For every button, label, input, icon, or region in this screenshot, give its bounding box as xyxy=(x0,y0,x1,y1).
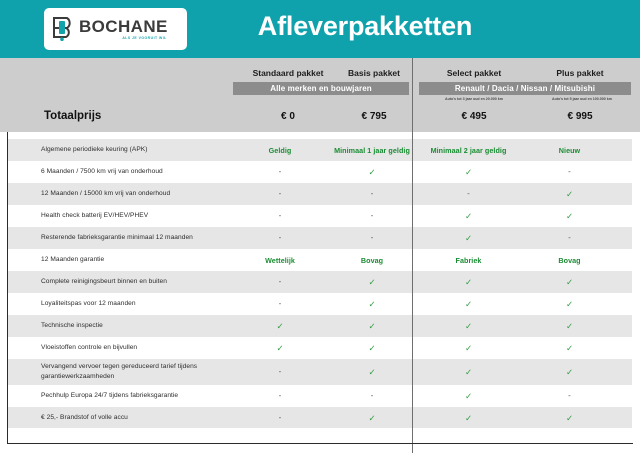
cell-text: Bovag xyxy=(558,256,580,265)
cell-basis: - xyxy=(326,212,418,220)
cell-text: Fabriek xyxy=(456,256,482,265)
cell-plus: Bovag xyxy=(519,256,620,265)
cell-select: ✓ xyxy=(418,168,519,177)
cell-basis: - xyxy=(326,190,418,198)
check-icon: ✓ xyxy=(276,321,283,331)
check-icon: ✓ xyxy=(465,321,472,331)
cell-basis: ✓ xyxy=(326,322,418,331)
dash-icon: - xyxy=(568,391,571,400)
cell-select: ✓ xyxy=(418,344,519,353)
check-icon: ✓ xyxy=(465,367,472,377)
dash-icon: - xyxy=(279,189,282,198)
dash-icon: - xyxy=(371,211,374,220)
cell-select: Minimaal 2 jaar geldig xyxy=(418,146,519,155)
check-icon: ✓ xyxy=(465,167,472,177)
package-header-standaard: Standaard pakket xyxy=(239,68,337,78)
cell-select: ✓ xyxy=(418,234,519,243)
cell-standaard: ✓ xyxy=(234,322,326,331)
cell-text: Minimaal 1 jaar geldig xyxy=(334,146,410,155)
row-label: Vloeistoffen controle en bijvullen xyxy=(8,343,234,353)
row-label: 6 Maanden / 7500 km vrij van onderhoud xyxy=(8,167,234,177)
cell-plus: - xyxy=(519,234,620,242)
feature-table: Algemene periodieke keuring (APK)GeldigM… xyxy=(8,139,632,429)
cell-basis: Minimaal 1 jaar geldig xyxy=(326,146,418,155)
dash-icon: - xyxy=(279,391,282,400)
check-icon: ✓ xyxy=(465,343,472,353)
check-icon: ✓ xyxy=(566,413,573,423)
total-price-select: € 495 xyxy=(422,111,526,122)
cell-standaard: - xyxy=(234,190,326,198)
cell-standaard: - xyxy=(234,212,326,220)
cell-standaard: - xyxy=(234,278,326,286)
package-header-plus: Plus pakket xyxy=(530,68,630,78)
dash-icon: - xyxy=(279,211,282,220)
row-label: € 25,- Brandstof of volle accu xyxy=(8,413,234,423)
dash-icon: - xyxy=(279,277,282,286)
cell-plus: - xyxy=(519,392,620,400)
check-icon: ✓ xyxy=(566,189,573,199)
cell-select: Fabriek xyxy=(418,256,519,265)
cell-basis: - xyxy=(326,234,418,242)
cell-select: - xyxy=(418,190,519,198)
row-label: Pechhulp Europa 24/7 tijdens fabrieksgar… xyxy=(8,391,234,401)
check-icon: ✓ xyxy=(368,413,375,423)
check-icon: ✓ xyxy=(465,299,472,309)
table-row: Loyaliteitspas voor 12 maanden-✓✓✓ xyxy=(8,293,632,315)
check-icon: ✓ xyxy=(368,167,375,177)
group-band-alle-merken: Alle merken en bouwjaren xyxy=(233,82,409,95)
cell-plus: ✓ xyxy=(519,322,620,331)
table-row: Resterende fabrieksgarantie minimaal 12 … xyxy=(8,227,632,249)
check-icon: ✓ xyxy=(368,367,375,377)
row-label: Algemene periodieke keuring (APK) xyxy=(8,145,234,155)
cell-text: Geldig xyxy=(269,146,292,155)
cell-plus: ✓ xyxy=(519,344,620,353)
table-row: 6 Maanden / 7500 km vrij van onderhoud-✓… xyxy=(8,161,632,183)
group-band-renault-dacia-nissan-mitsubishi: Renault / Dacia / Nissan / Mitsubishi xyxy=(419,82,631,95)
table-row: 12 Maanden garantieWettelijkBovagFabriek… xyxy=(8,249,632,271)
package-header-basis: Basis pakket xyxy=(334,68,414,78)
dash-icon: - xyxy=(371,189,374,198)
cell-plus: ✓ xyxy=(519,300,620,309)
table-row: Complete reinigingsbeurt binnen en buite… xyxy=(8,271,632,293)
cell-basis: - xyxy=(326,392,418,400)
total-price-label: Totaalprijs xyxy=(44,110,101,122)
check-icon: ✓ xyxy=(465,211,472,221)
dash-icon: - xyxy=(279,233,282,242)
row-label: Vervangend vervoer tegen gereduceerd tar… xyxy=(8,362,234,381)
table-row: Vervangend vervoer tegen gereduceerd tar… xyxy=(8,359,632,385)
cell-basis: ✓ xyxy=(326,300,418,309)
cell-standaard: - xyxy=(234,392,326,400)
cell-select: ✓ xyxy=(418,368,519,377)
row-label: Health check batterij EV/HEV/PHEV xyxy=(8,211,234,221)
cell-plus: ✓ xyxy=(519,414,620,423)
table-row: Pechhulp Europa 24/7 tijdens fabrieksgar… xyxy=(8,385,632,407)
cell-basis: ✓ xyxy=(326,168,418,177)
check-icon: ✓ xyxy=(368,299,375,309)
cell-basis: Bovag xyxy=(326,256,418,265)
check-icon: ✓ xyxy=(566,277,573,287)
check-icon: ✓ xyxy=(566,211,573,221)
total-price-plus: € 995 xyxy=(530,111,630,122)
cell-text: Wettelijk xyxy=(265,256,295,265)
cell-plus: ✓ xyxy=(519,190,620,199)
cell-select: ✓ xyxy=(418,212,519,221)
fine-print-select: Auto's tot 3 jaar oud en 20.000 km xyxy=(422,97,526,101)
table-row: € 25,- Brandstof of volle accu-✓✓✓ xyxy=(8,407,632,429)
dash-icon: - xyxy=(467,189,470,198)
check-icon: ✓ xyxy=(566,321,573,331)
check-icon: ✓ xyxy=(465,391,472,401)
cell-basis: ✓ xyxy=(326,278,418,287)
check-icon: ✓ xyxy=(566,343,573,353)
total-price-basis: € 795 xyxy=(334,111,414,122)
table-row: Algemene periodieke keuring (APK)GeldigM… xyxy=(8,139,632,161)
afleverpakketten-page: BOCHANE ALS JE VOORUIT WIL Afleverpakket… xyxy=(0,0,640,453)
row-label: Resterende fabrieksgarantie minimaal 12 … xyxy=(8,233,234,243)
table-row: Technische inspectie✓✓✓✓ xyxy=(8,315,632,337)
dash-icon: - xyxy=(371,391,374,400)
check-icon: ✓ xyxy=(465,413,472,423)
table-row: Vloeistoffen controle en bijvullen✓✓✓✓ xyxy=(8,337,632,359)
row-label: 12 Maanden garantie xyxy=(8,255,234,265)
cell-select: ✓ xyxy=(418,300,519,309)
cell-standaard: - xyxy=(234,300,326,308)
dash-icon: - xyxy=(371,233,374,242)
cell-standaard: Wettelijk xyxy=(234,256,326,265)
check-icon: ✓ xyxy=(368,321,375,331)
check-icon: ✓ xyxy=(566,367,573,377)
cell-standaard: - xyxy=(234,168,326,176)
dash-icon: - xyxy=(568,167,571,176)
cell-basis: ✓ xyxy=(326,414,418,423)
cell-plus: - xyxy=(519,168,620,176)
table-row: 12 Maanden / 15000 km vrij van onderhoud… xyxy=(8,183,632,205)
row-label: 12 Maanden / 15000 km vrij van onderhoud xyxy=(8,189,234,199)
dash-icon: - xyxy=(279,167,282,176)
table-row: Health check batterij EV/HEV/PHEV--✓✓ xyxy=(8,205,632,227)
cell-standaard: Geldig xyxy=(234,146,326,155)
cell-select: ✓ xyxy=(418,278,519,287)
check-icon: ✓ xyxy=(276,343,283,353)
cell-select: ✓ xyxy=(418,414,519,423)
check-icon: ✓ xyxy=(465,277,472,287)
table-bottom-border xyxy=(7,443,633,444)
check-icon: ✓ xyxy=(566,299,573,309)
cell-standaard: - xyxy=(234,234,326,242)
row-label: Loyaliteitspas voor 12 maanden xyxy=(8,299,234,309)
table-tail-row xyxy=(8,428,632,443)
cell-standaard: - xyxy=(234,368,326,376)
package-group-divider xyxy=(412,58,413,453)
cell-basis: ✓ xyxy=(326,368,418,377)
check-icon: ✓ xyxy=(368,277,375,287)
cell-text: Minimaal 2 jaar geldig xyxy=(431,146,507,155)
cell-select: ✓ xyxy=(418,322,519,331)
total-price-standaard: € 0 xyxy=(239,111,337,122)
check-icon: ✓ xyxy=(368,343,375,353)
cell-plus: ✓ xyxy=(519,368,620,377)
dash-icon: - xyxy=(568,233,571,242)
cell-basis: ✓ xyxy=(326,344,418,353)
cell-standaard: - xyxy=(234,414,326,422)
dash-icon: - xyxy=(279,367,282,376)
package-header-select: Select pakket xyxy=(422,68,526,78)
cell-plus: ✓ xyxy=(519,278,620,287)
row-label: Complete reinigingsbeurt binnen en buite… xyxy=(8,277,234,287)
cell-text: Bovag xyxy=(361,256,383,265)
page-header: BOCHANE ALS JE VOORUIT WIL Afleverpakket… xyxy=(0,0,640,58)
row-label: Technische inspectie xyxy=(8,321,234,331)
page-title: Afleverpakketten xyxy=(0,11,640,42)
dash-icon: - xyxy=(279,299,282,308)
dash-icon: - xyxy=(279,413,282,422)
fine-print-plus: Auto's tot 5 jaar oud en 100.000 km xyxy=(530,97,634,101)
check-icon: ✓ xyxy=(465,233,472,243)
cell-plus: ✓ xyxy=(519,212,620,221)
cell-standaard: ✓ xyxy=(234,344,326,353)
cell-plus: Nieuw xyxy=(519,146,620,155)
cell-text: Nieuw xyxy=(559,146,580,155)
cell-select: ✓ xyxy=(418,392,519,401)
total-price-row: Totaalprijs € 0 € 795 € 495 € 995 xyxy=(0,103,640,132)
table-left-border xyxy=(7,132,8,444)
